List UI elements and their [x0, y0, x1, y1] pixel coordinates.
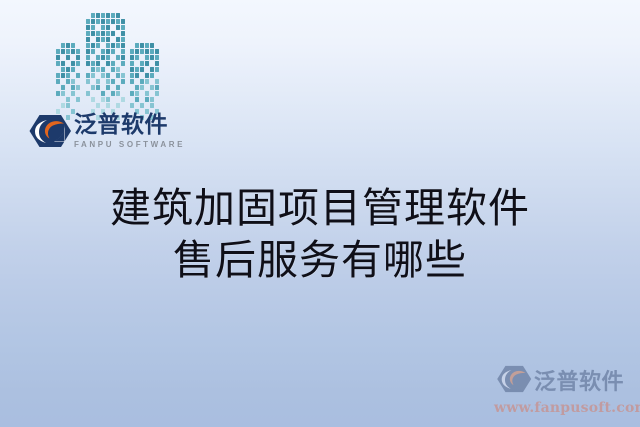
skyline-pixel	[116, 79, 120, 84]
skyline-pixel	[56, 103, 60, 108]
skyline-pixel	[56, 67, 60, 72]
skyline-pixel	[140, 79, 144, 84]
skyline-pixel	[96, 43, 100, 48]
skyline-pixel	[101, 31, 105, 36]
skyline-pixel	[56, 91, 60, 96]
skyline-pixel	[71, 61, 75, 66]
skyline-pixel	[76, 85, 80, 90]
skyline-pixel	[121, 73, 125, 78]
skyline-pixel	[96, 61, 100, 66]
skyline-pixel	[61, 43, 65, 48]
skyline-pixel	[145, 55, 149, 60]
skyline-pixel	[150, 91, 154, 96]
skyline-pixel	[86, 85, 90, 90]
skyline-pixel	[155, 55, 159, 60]
skyline-pixel	[116, 25, 120, 30]
skyline-pixel	[56, 97, 60, 102]
skyline-pixel	[140, 91, 144, 96]
watermark-brand-name: 泛普软件	[534, 364, 624, 396]
skyline-pixel	[106, 19, 110, 24]
skyline-pixel	[150, 67, 154, 72]
skyline-pixel	[116, 37, 120, 42]
skyline-pixel	[96, 49, 100, 54]
skyline-pixel	[130, 73, 134, 78]
skyline-pixel	[140, 67, 144, 72]
skyline-pixel	[106, 25, 110, 30]
skyline-pixel	[135, 43, 139, 48]
skyline-pixel	[116, 103, 120, 108]
skyline-pixel	[91, 73, 95, 78]
skyline-pixel	[121, 79, 125, 84]
skyline-pixel	[135, 67, 139, 72]
skyline-pixel	[116, 97, 120, 102]
skyline-pixel	[135, 103, 139, 108]
skyline-pixel	[121, 19, 125, 24]
skyline-pixel	[101, 67, 105, 72]
skyline-pixel	[56, 85, 60, 90]
skyline-pixel	[135, 73, 139, 78]
skyline-pixel	[86, 19, 90, 24]
skyline-pixel	[66, 61, 70, 66]
skyline-pixel	[76, 97, 80, 102]
skyline-pixel	[121, 55, 125, 60]
skyline-pixel	[76, 79, 80, 84]
skyline-pixel	[101, 13, 105, 18]
skyline-pixel	[121, 49, 125, 54]
skyline-pixel	[116, 85, 120, 90]
skyline-pixel	[145, 43, 149, 48]
skyline-pixel	[86, 103, 90, 108]
fanpu-watermark-logo-icon	[496, 365, 532, 393]
skyline-pixel	[155, 103, 159, 108]
skyline-pixel	[71, 91, 75, 96]
skyline-pixel	[155, 61, 159, 66]
pixel-building-skyline	[56, 24, 160, 120]
brand-name-en: FANPU SOFTWARE	[74, 139, 174, 150]
skyline-pixel	[150, 49, 154, 54]
skyline-pixel	[61, 67, 65, 72]
skyline-pixel	[106, 49, 110, 54]
skyline-pixel	[86, 73, 90, 78]
skyline-pixel	[76, 91, 80, 96]
skyline-pixel	[116, 61, 120, 66]
skyline-pixel	[116, 67, 120, 72]
skyline-pixel	[96, 85, 100, 90]
skyline-pixel	[111, 67, 115, 72]
skyline-pixel	[155, 73, 159, 78]
skyline-pixel	[121, 85, 125, 90]
skyline-pixel	[106, 31, 110, 36]
skyline-pixel	[130, 103, 134, 108]
skyline-pixel	[86, 67, 90, 72]
skyline-pixel	[96, 97, 100, 102]
skyline-pixel	[111, 61, 115, 66]
skyline-pixel	[101, 103, 105, 108]
skyline-pixel	[96, 55, 100, 60]
skyline-pixel	[116, 55, 120, 60]
skyline-pixel	[76, 67, 80, 72]
skyline-pixel	[106, 73, 110, 78]
skyline-pixel	[145, 97, 149, 102]
skyline-pixel	[111, 103, 115, 108]
brand-wordmark: 泛普软件 FANPU SOFTWARE	[74, 111, 174, 150]
skyline-pixel	[91, 19, 95, 24]
skyline-pixel	[150, 85, 154, 90]
skyline-pixel	[91, 85, 95, 90]
skyline-pixel	[140, 55, 144, 60]
skyline-pixel	[66, 103, 70, 108]
skyline-pixel	[66, 91, 70, 96]
skyline-pixel	[121, 43, 125, 48]
skyline-pixel	[140, 97, 144, 102]
skyline-pixel	[91, 13, 95, 18]
skyline-pixel	[150, 97, 154, 102]
skyline-pixel	[106, 13, 110, 18]
skyline-pixel	[150, 61, 154, 66]
skyline-pixel	[96, 91, 100, 96]
skyline-pixel	[116, 49, 120, 54]
skyline-pixel	[145, 49, 149, 54]
skyline-pixel	[116, 13, 120, 18]
skyline-pixel	[155, 43, 159, 48]
skyline-pixel	[66, 43, 70, 48]
skyline-pixel	[91, 103, 95, 108]
skyline-pixel	[61, 55, 65, 60]
skyline-pixel	[135, 79, 139, 84]
skyline-pixel	[111, 37, 115, 42]
skyline-pixel	[121, 67, 125, 72]
skyline-pixel	[66, 49, 70, 54]
skyline-pixel	[135, 85, 139, 90]
skyline-pixel	[71, 43, 75, 48]
skyline-pixel	[56, 79, 60, 84]
skyline-pixel	[130, 49, 134, 54]
skyline-pixel	[76, 43, 80, 48]
skyline-pixel	[155, 79, 159, 84]
skyline-pixel	[96, 31, 100, 36]
skyline-pixel	[91, 43, 95, 48]
skyline-pixel	[111, 79, 115, 84]
skyline-pixel	[140, 85, 144, 90]
skyline-pixel	[101, 49, 105, 54]
skyline-pixel	[135, 55, 139, 60]
skyline-pixel	[145, 61, 149, 66]
skyline-pixel	[155, 97, 159, 102]
skyline-pixel	[76, 103, 80, 108]
skyline-pixel	[91, 49, 95, 54]
skyline-pixel	[71, 85, 75, 90]
skyline-pixel	[106, 43, 110, 48]
skyline-pixel	[66, 73, 70, 78]
site-watermark: 泛普软件 www.fanpusoft.com	[490, 361, 634, 421]
skyline-pixel	[116, 73, 120, 78]
skyline-pixel	[121, 37, 125, 42]
skyline-pixel	[106, 91, 110, 96]
skyline-pixel	[130, 91, 134, 96]
skyline-tower-left	[56, 43, 82, 120]
skyline-tower-right	[130, 43, 160, 120]
skyline-pixel	[86, 37, 90, 42]
skyline-pixel	[111, 91, 115, 96]
promo-banner: 泛普软件 FANPU SOFTWARE 建筑加固项目管理软件 售后服务有哪些 泛…	[0, 0, 640, 427]
skyline-pixel	[91, 67, 95, 72]
skyline-pixel	[96, 73, 100, 78]
brand-name-cn: 泛普软件	[74, 111, 174, 139]
skyline-pixel	[96, 37, 100, 42]
skyline-pixel	[101, 97, 105, 102]
skyline-pixel	[86, 91, 90, 96]
skyline-pixel	[121, 91, 125, 96]
skyline-pixel	[106, 37, 110, 42]
skyline-pixel	[121, 13, 125, 18]
skyline-pixel	[106, 85, 110, 90]
page-title-line-2: 售后服务有哪些	[0, 234, 640, 286]
skyline-pixel	[101, 43, 105, 48]
skyline-pixel	[111, 97, 115, 102]
skyline-pixel	[145, 67, 149, 72]
skyline-pixel	[56, 43, 60, 48]
skyline-pixel	[140, 49, 144, 54]
skyline-pixel	[96, 25, 100, 30]
skyline-pixel	[86, 55, 90, 60]
skyline-pixel	[96, 13, 100, 18]
skyline-pixel	[145, 79, 149, 84]
skyline-pixel	[86, 25, 90, 30]
skyline-pixel	[71, 73, 75, 78]
skyline-pixel	[86, 79, 90, 84]
skyline-pixel	[56, 49, 60, 54]
skyline-pixel	[61, 103, 65, 108]
skyline-pixel	[111, 73, 115, 78]
skyline-pixel	[86, 43, 90, 48]
skyline-pixel	[76, 55, 80, 60]
skyline-pixel	[106, 79, 110, 84]
skyline-pixel	[61, 91, 65, 96]
skyline-pixel	[121, 25, 125, 30]
skyline-pixel	[71, 79, 75, 84]
skyline-pixel	[140, 73, 144, 78]
skyline-pixel	[56, 61, 60, 66]
skyline-pixel	[86, 49, 90, 54]
skyline-pixel	[155, 67, 159, 72]
skyline-pixel	[130, 43, 134, 48]
skyline-pixel	[106, 55, 110, 60]
skyline-pixel	[135, 49, 139, 54]
skyline-pixel	[111, 49, 115, 54]
skyline-pixel	[61, 61, 65, 66]
skyline-pixel	[140, 43, 144, 48]
skyline-pixel	[61, 79, 65, 84]
skyline-pixel	[101, 37, 105, 42]
skyline-pixel	[155, 49, 159, 54]
skyline-pixel	[66, 85, 70, 90]
skyline-pixel	[61, 85, 65, 90]
skyline-pixel	[135, 97, 139, 102]
skyline-pixel	[101, 19, 105, 24]
skyline-pixel	[56, 73, 60, 78]
skyline-pixel	[101, 73, 105, 78]
skyline-pixel	[86, 31, 90, 36]
skyline-pixel	[91, 61, 95, 66]
skyline-pixel	[91, 31, 95, 36]
skyline-pixel	[150, 79, 154, 84]
skyline-pixel	[91, 79, 95, 84]
skyline-pixel	[150, 73, 154, 78]
skyline-pixel	[111, 43, 115, 48]
skyline-pixel	[140, 103, 144, 108]
skyline-pixel	[56, 55, 60, 60]
skyline-pixel	[130, 85, 134, 90]
skyline-pixel	[116, 43, 120, 48]
skyline-pixel	[150, 55, 154, 60]
skyline-pixel	[101, 79, 105, 84]
skyline-pixel	[111, 19, 115, 24]
skyline-pixel	[130, 79, 134, 84]
skyline-pixel	[66, 55, 70, 60]
skyline-pixel	[71, 67, 75, 72]
skyline-pixel	[101, 55, 105, 60]
skyline-pixel	[91, 37, 95, 42]
watermark-logo-row: 泛普软件	[490, 361, 634, 399]
skyline-pixel	[66, 97, 70, 102]
skyline-pixel	[106, 97, 110, 102]
skyline-pixel	[145, 91, 149, 96]
skyline-pixel	[96, 79, 100, 84]
skyline-pixel	[101, 25, 105, 30]
skyline-pixel	[111, 85, 115, 90]
skyline-pixel	[135, 61, 139, 66]
skyline-pixel	[91, 25, 95, 30]
page-title-line-1: 建筑加固项目管理软件	[0, 182, 640, 234]
skyline-pixel	[101, 85, 105, 90]
skyline-pixel	[130, 55, 134, 60]
skyline-pixel	[76, 49, 80, 54]
skyline-pixel	[121, 31, 125, 36]
fanpu-hexagon-logo-icon	[28, 114, 72, 148]
skyline-pixel	[135, 91, 139, 96]
skyline-pixel	[91, 91, 95, 96]
skyline-pixel	[121, 103, 125, 108]
page-title: 建筑加固项目管理软件 售后服务有哪些	[0, 182, 640, 286]
skyline-pixel	[145, 103, 149, 108]
skyline-pixel	[111, 31, 115, 36]
skyline-pixel	[121, 61, 125, 66]
skyline-pixel	[76, 61, 80, 66]
skyline-pixel	[71, 55, 75, 60]
skyline-pixel	[130, 67, 134, 72]
skyline-pixel	[86, 97, 90, 102]
skyline-pixel	[116, 91, 120, 96]
skyline-pixel	[66, 79, 70, 84]
skyline-pixel	[130, 97, 134, 102]
skyline-pixel	[116, 31, 120, 36]
skyline-pixel	[150, 43, 154, 48]
skyline-pixel	[111, 25, 115, 30]
skyline-pixel	[91, 97, 95, 102]
skyline-pixel	[106, 103, 110, 108]
skyline-pixel	[71, 97, 75, 102]
skyline-pixel	[86, 13, 90, 18]
skyline-pixel	[130, 61, 134, 66]
skyline-pixel	[71, 49, 75, 54]
skyline-pixel	[101, 91, 105, 96]
skyline-pixel	[106, 61, 110, 66]
skyline-pixel	[121, 97, 125, 102]
skyline-pixel	[150, 103, 154, 108]
skyline-pixel	[61, 97, 65, 102]
skyline-pixel	[61, 73, 65, 78]
skyline-pixel	[145, 73, 149, 78]
skyline-pixel	[61, 49, 65, 54]
skyline-pixel	[96, 19, 100, 24]
watermark-url: www.fanpusoft.com	[494, 400, 640, 416]
brand-logo: 泛普软件 FANPU SOFTWARE	[28, 111, 174, 157]
skyline-pixel	[71, 103, 75, 108]
skyline-pixel	[96, 103, 100, 108]
skyline-pixel	[116, 19, 120, 24]
skyline-pixel	[155, 85, 159, 90]
skyline-pixel	[111, 55, 115, 60]
skyline-pixel	[91, 55, 95, 60]
skyline-pixel	[96, 67, 100, 72]
skyline-pixel	[101, 61, 105, 66]
skyline-pixel	[86, 61, 90, 66]
skyline-pixel	[66, 67, 70, 72]
skyline-pixel	[76, 73, 80, 78]
skyline-tower-middle	[86, 13, 126, 120]
skyline-pixel	[140, 61, 144, 66]
skyline-pixel	[111, 13, 115, 18]
skyline-pixel	[106, 67, 110, 72]
skyline-pixel	[145, 85, 149, 90]
skyline-pixel	[155, 91, 159, 96]
